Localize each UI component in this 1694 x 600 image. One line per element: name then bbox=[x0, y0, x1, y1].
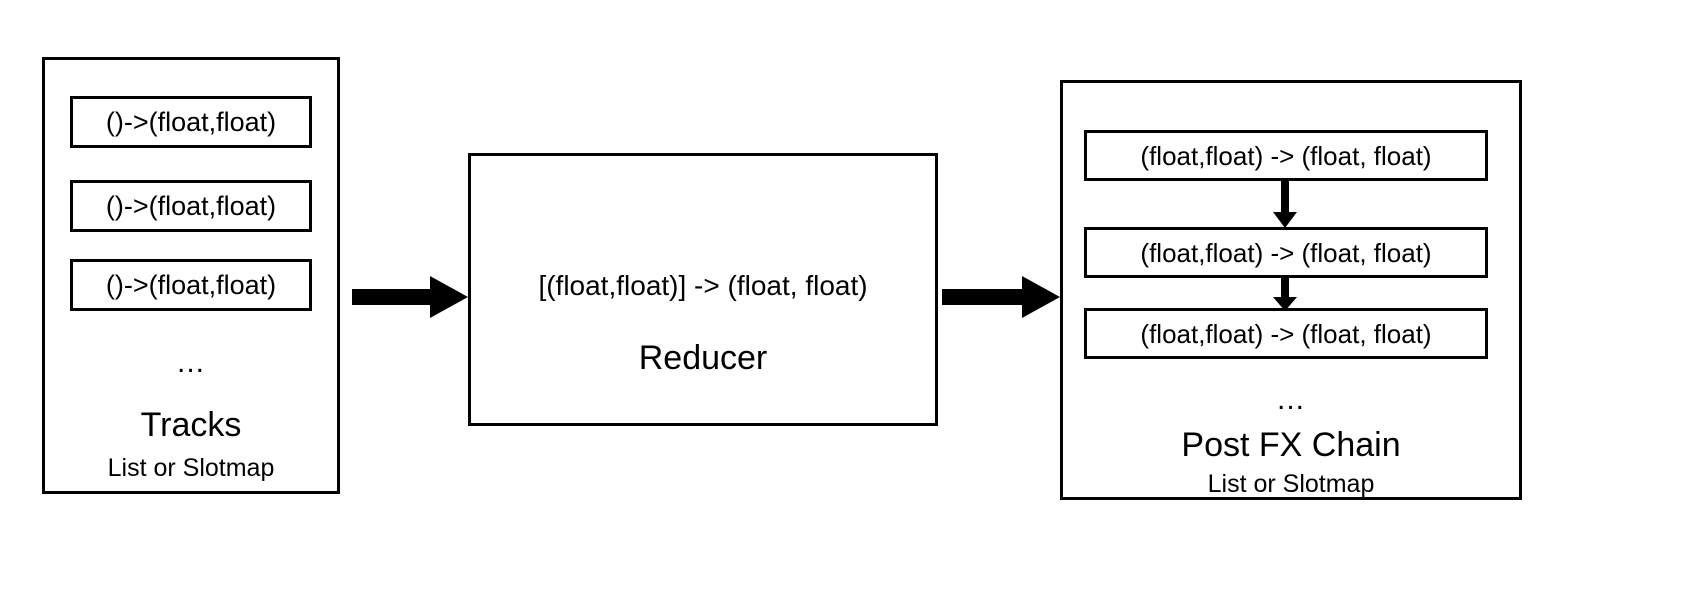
reducer-signature-label: [(float,float)] -> (float, float) bbox=[468, 272, 938, 300]
reducer-title: Reducer bbox=[468, 341, 938, 375]
track-signature-box: ()->(float,float) bbox=[70, 180, 312, 232]
track-signature-label: ()->(float,float) bbox=[106, 193, 276, 220]
track-signature-label: ()->(float,float) bbox=[106, 109, 276, 136]
arrow-fx-stage-1-to-2-icon bbox=[1270, 179, 1300, 234]
post-fx-chain-subtitle: List or Slotmap bbox=[1060, 472, 1522, 497]
post-fx-chain-title: Post FX Chain bbox=[1060, 428, 1522, 462]
post-fx-ellipsis: ... bbox=[1060, 385, 1522, 415]
post-fx-signature-box: (float,float) -> (float, float) bbox=[1084, 227, 1488, 278]
tracks-ellipsis: ... bbox=[42, 348, 340, 378]
post-fx-signature-label: (float,float) -> (float, float) bbox=[1140, 321, 1431, 347]
arrow-reducer-to-post-fx-icon bbox=[942, 272, 1062, 327]
diagram-canvas: ()->(float,float) ()->(float,float) ()->… bbox=[0, 0, 1694, 600]
track-signature-box: ()->(float,float) bbox=[70, 96, 312, 148]
post-fx-signature-box: (float,float) -> (float, float) bbox=[1084, 130, 1488, 181]
arrow-fx-stage-2-to-3-icon bbox=[1270, 276, 1300, 317]
post-fx-signature-label: (float,float) -> (float, float) bbox=[1140, 143, 1431, 169]
tracks-title: Tracks bbox=[42, 408, 340, 442]
track-signature-box: ()->(float,float) bbox=[70, 259, 312, 311]
tracks-subtitle: List or Slotmap bbox=[42, 456, 340, 481]
post-fx-signature-label: (float,float) -> (float, float) bbox=[1140, 240, 1431, 266]
track-signature-label: ()->(float,float) bbox=[106, 272, 276, 299]
arrow-tracks-to-reducer-icon bbox=[352, 272, 470, 327]
